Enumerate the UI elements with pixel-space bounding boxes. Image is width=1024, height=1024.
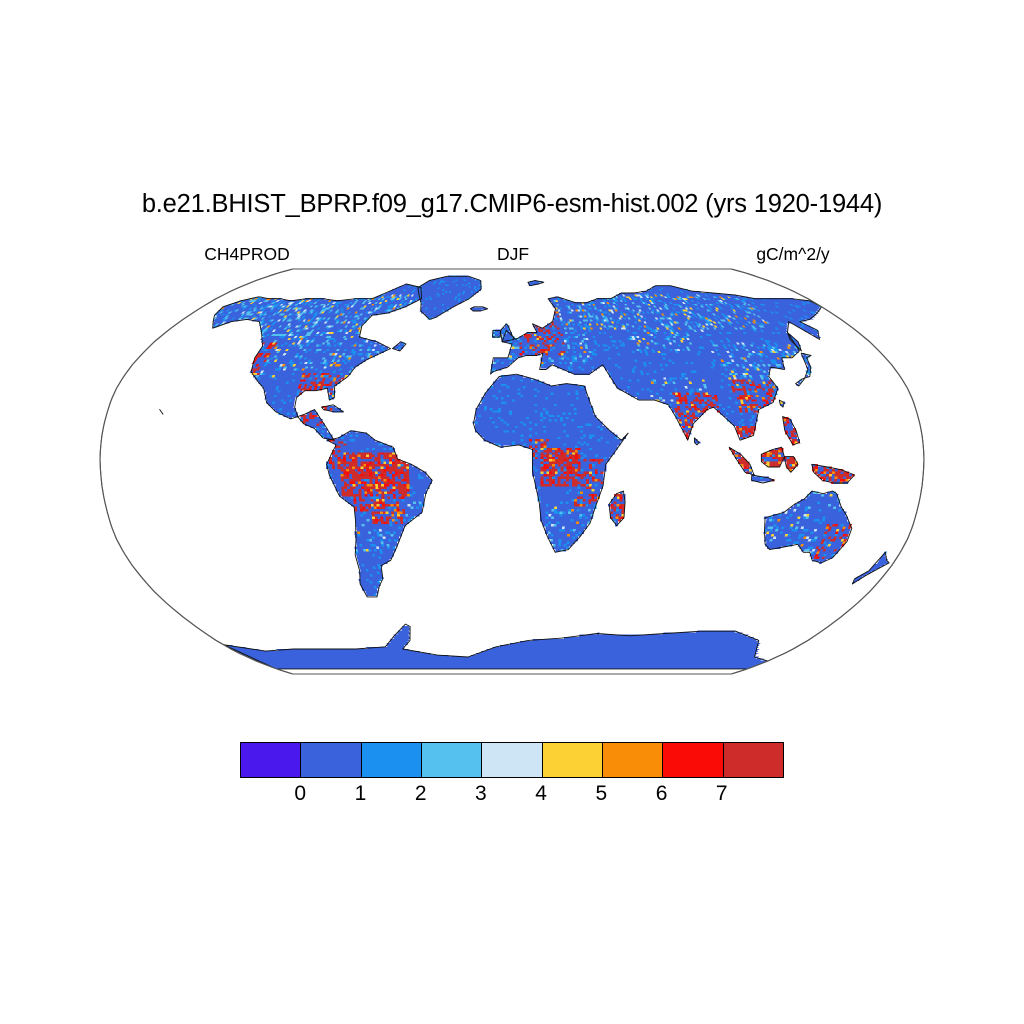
colorbar-segment-7[interactable] <box>663 743 723 777</box>
robinson-map <box>0 262 1024 702</box>
colorbar-tick-5: 5 <box>581 781 621 807</box>
colorbar-segment-2[interactable] <box>362 743 422 777</box>
colorbar-segment-4[interactable] <box>482 743 542 777</box>
colorbar-segment-5[interactable] <box>543 743 603 777</box>
map-outline <box>100 269 924 674</box>
colorbar-segment-3[interactable] <box>422 743 482 777</box>
colorbar-tick-0: 0 <box>280 781 320 807</box>
colorbar-tick-2: 2 <box>401 781 441 807</box>
colorbar-segment-0[interactable] <box>241 743 301 777</box>
colorbar-tick-labels: 01234567 <box>240 781 782 809</box>
colorbar-segment-8[interactable] <box>724 743 783 777</box>
colorbar[interactable] <box>240 742 784 778</box>
colorbar-tick-7: 7 <box>702 781 742 807</box>
colorbar-segment-6[interactable] <box>603 743 663 777</box>
colorbar-tick-6: 6 <box>642 781 682 807</box>
colorbar-tick-3: 3 <box>461 781 501 807</box>
colorbar-tick-1: 1 <box>340 781 380 807</box>
map-panel <box>0 262 1024 702</box>
colorbar-tick-4: 4 <box>521 781 561 807</box>
colorbar-segment-1[interactable] <box>301 743 361 777</box>
figure-title: b.e21.BHIST_BPRP.f09_g17.CMIP6-esm-hist.… <box>0 190 1024 219</box>
figure-canvas: b.e21.BHIST_BPRP.f09_g17.CMIP6-esm-hist.… <box>0 0 1024 1024</box>
